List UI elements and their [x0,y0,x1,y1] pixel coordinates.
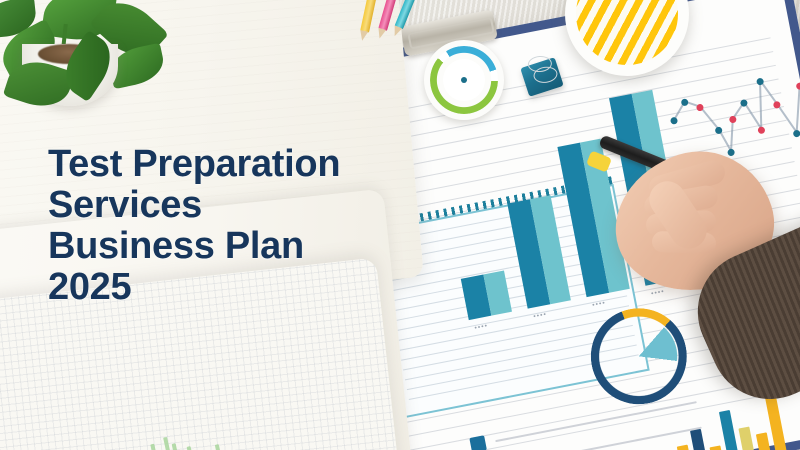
mini-bar [709,445,724,450]
scatter-point [681,98,689,106]
bowl-stripes [576,0,678,65]
title-line-2: Services [48,185,340,226]
scatter-point [796,82,800,90]
legend-item-1-swatch [469,435,487,450]
scatter-point [793,129,800,137]
mini-bar [677,445,693,450]
scatter-point [670,117,678,125]
histogram-bar [187,446,205,450]
clock-badge [424,40,504,120]
poster-canvas: •••••••••••••••• [0,0,800,450]
scatter-link [796,86,800,134]
clock-hub [461,77,467,83]
scatter-link [776,104,797,134]
scatter-link [760,81,763,130]
page-title: Test Preparation Services Business Plan … [48,144,340,308]
scatter-point [729,115,737,123]
mini-bar [719,410,741,450]
scatter-point [727,148,735,156]
notebook-green-histogram [67,395,377,450]
mini-bar [738,427,756,450]
title-line-1: Test Preparation [48,144,340,185]
mini-bar [756,433,772,450]
title-line-4: 2025 [48,267,340,308]
clock-face [443,59,485,101]
histogram-bar [215,445,232,450]
title-line-3: Business Plan [48,226,340,267]
mini-bar [690,429,709,450]
scatter-link [731,119,734,152]
bar: •••• [507,195,571,308]
bar: •••• [461,270,512,320]
scatter-point [757,126,765,134]
